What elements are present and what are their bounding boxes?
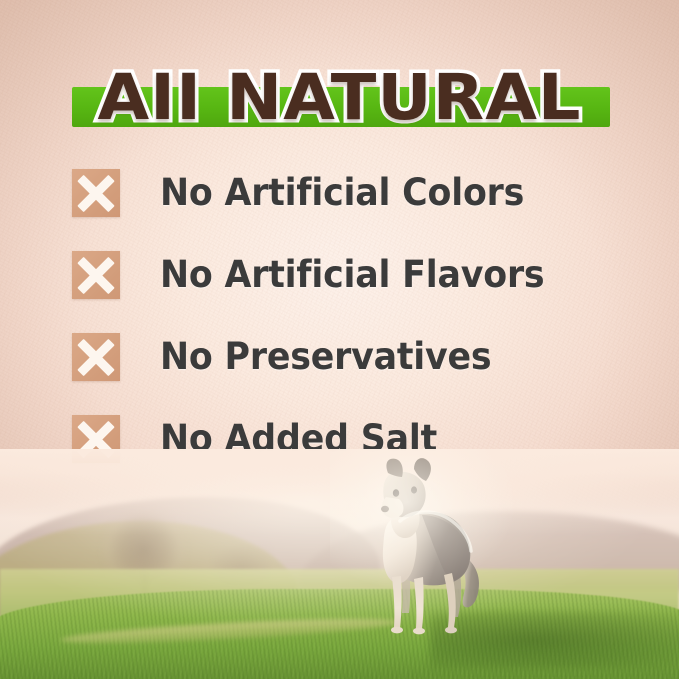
landscape-photograph [0,449,679,679]
x-mark-icon [72,333,120,381]
headline-banner: AII NATURAL [0,56,679,140]
claim-label: No Preservatives [160,332,491,382]
all-natural-product-poster: AII NATURAL No Artificial Colors No Arti… [0,0,679,679]
x-mark-icon [72,251,120,299]
claim-label: No Artificial Colors [160,168,524,218]
claim-row: No Artificial Colors [72,168,632,218]
headline-text: AII NATURAL [0,56,679,140]
claims-list: No Artificial Colors No Artificial Flavo… [72,168,632,496]
claim-row: No Artificial Flavors [72,250,632,300]
claim-label: No Artificial Flavors [160,250,544,300]
claim-row: No Preservatives [72,332,632,382]
border-collie-dog [352,457,492,639]
x-mark-icon [72,169,120,217]
